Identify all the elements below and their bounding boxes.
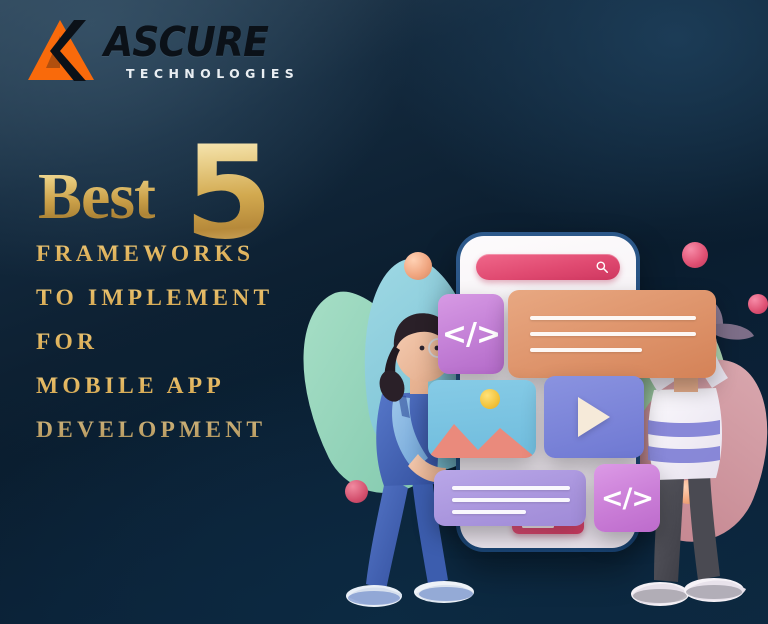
text-line-1 [530,316,696,320]
code-card-top[interactable]: </> [438,294,504,374]
brand-logo[interactable]: ASCURE TECHNOLOGIES [26,16,286,90]
text-line-3 [530,348,642,352]
headline-number-five: 5 [184,130,269,258]
text-line-1 [452,486,570,490]
illustration-scene: </> </> [300,180,768,624]
sun-icon [480,389,500,409]
video-card[interactable] [544,376,644,458]
text-line-3 [452,510,526,514]
text-card-purple[interactable] [434,470,586,526]
code-brackets-icon: </> [438,294,504,374]
headline-word-best: Best [38,164,155,230]
code-brackets-icon: </> [594,464,660,532]
poster-canvas: ASCURE TECHNOLOGIES Best 5 FRAMEWORKS TO… [0,0,768,624]
brand-name: ASCURE [104,22,268,63]
text-card-orange[interactable] [508,290,716,378]
image-card[interactable] [428,380,536,458]
mountain-icon [428,410,536,458]
play-triangle-icon [578,397,610,437]
sphere-peach-top [404,252,432,280]
search-input[interactable] [476,254,620,280]
ascure-triangle-logo-icon [26,18,102,84]
code-card-bottom[interactable]: </> [594,464,660,532]
brand-tagline: TECHNOLOGIES [126,66,299,81]
text-line-2 [452,498,570,502]
text-line-2 [530,332,696,336]
search-icon [595,260,609,274]
